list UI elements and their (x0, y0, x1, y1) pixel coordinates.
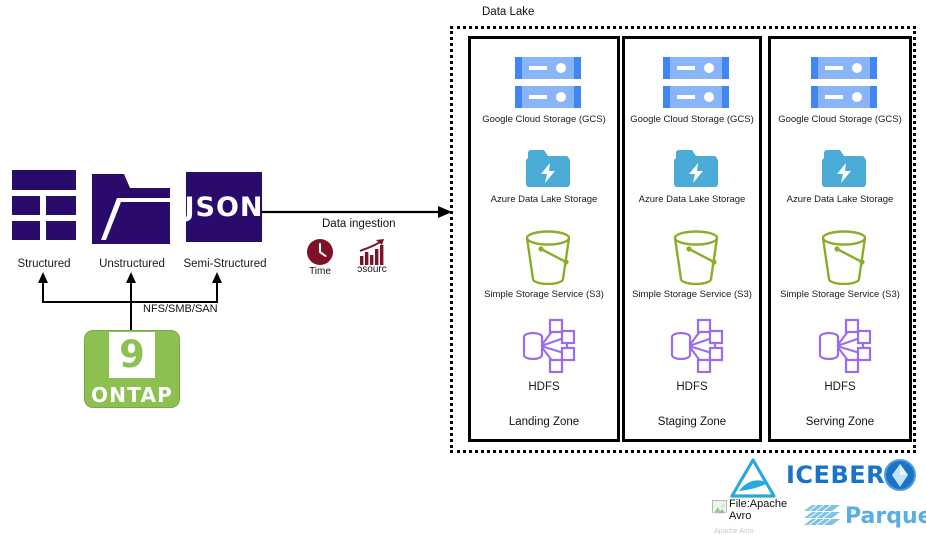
diagram-canvas: Structured Unstructured JSON Semi-Struct… (0, 0, 926, 535)
store-label-hdfs: HDFS (471, 381, 617, 393)
store-label-azure: Azure Data Lake Storage (625, 194, 759, 205)
data-lake-title: Data Lake (482, 6, 534, 18)
store-label-gcs: Google Cloud Storage (GCS) (471, 114, 617, 125)
zone-serving: Google Cloud Storage (GCS) Azure Data La… (768, 36, 912, 442)
hdfs-cluster-icon (667, 317, 725, 375)
source-label-unstructured: Unstructured (88, 258, 176, 270)
store-label-hdfs: HDFS (771, 381, 909, 393)
ontap-logo: 9 ONTAP (84, 330, 180, 408)
gcs-server-icon (663, 55, 729, 111)
ontap-name: ONTAP (91, 383, 173, 407)
zone-name-staging: Staging Zone (625, 416, 759, 428)
s3-bucket-icon (669, 229, 723, 285)
broken-image-icon (712, 500, 727, 513)
zone-name-landing: Landing Zone (471, 416, 617, 428)
zone-landing: Google Cloud Storage (GCS) Azure Data La… (468, 36, 620, 442)
clock-icon (306, 238, 334, 266)
store-label-hdfs: HDFS (625, 381, 759, 393)
delta-triangle-icon (730, 458, 776, 498)
zone-name-serving: Serving Zone (771, 416, 909, 428)
ontap-riser-line (130, 302, 132, 330)
store-label-azure: Azure Data Lake Storage (771, 194, 909, 205)
iceberg-globe-icon (884, 459, 916, 491)
gcs-server-icon (811, 55, 877, 111)
metric-label-resource: ɔsourc (352, 264, 392, 275)
store-label-azure: Azure Data Lake Storage (471, 194, 617, 205)
gcs-server-icon (515, 55, 581, 111)
store-label-gcs: Google Cloud Storage (GCS) (625, 114, 759, 125)
protocol-label: NFS/SMB/SAN (143, 303, 218, 315)
data-ingestion-label: Data ingestion (322, 218, 396, 230)
table-icon (12, 170, 76, 242)
folder-icon (92, 168, 170, 244)
ontap-version: 9 (109, 332, 155, 378)
parquet-wordmark: Parquet (845, 504, 926, 529)
hdfs-cluster-icon (815, 317, 873, 375)
json-icon: JSON (186, 172, 262, 242)
metric-label-resource-clip: ɔsourc (352, 264, 392, 278)
store-label-gcs: Google Cloud Storage (GCS) (771, 114, 909, 125)
hdfs-cluster-icon (519, 317, 577, 375)
parquet-stack-icon (802, 503, 842, 529)
metric-label-time: Time (300, 266, 340, 277)
zone-staging: Google Cloud Storage (GCS) Azure Data La… (622, 36, 762, 442)
azure-folder-icon (526, 147, 570, 189)
azure-folder-icon (822, 147, 866, 189)
avro-broken-label: File:Apache Avro (729, 498, 807, 522)
growth-chart-icon (358, 238, 386, 266)
store-label-s3: Simple Storage Service (S3) (471, 289, 617, 300)
azure-folder-icon (674, 147, 718, 189)
store-label-s3: Simple Storage Service (S3) (625, 289, 759, 300)
avro-faint-caption: Apache Avro (714, 528, 754, 535)
source-label-semi-structured: Semi-Structured (178, 258, 272, 270)
source-label-structured: Structured (2, 258, 86, 270)
s3-bucket-icon (521, 229, 575, 285)
s3-bucket-icon (817, 229, 871, 285)
store-label-s3: Simple Storage Service (S3) (771, 289, 909, 300)
